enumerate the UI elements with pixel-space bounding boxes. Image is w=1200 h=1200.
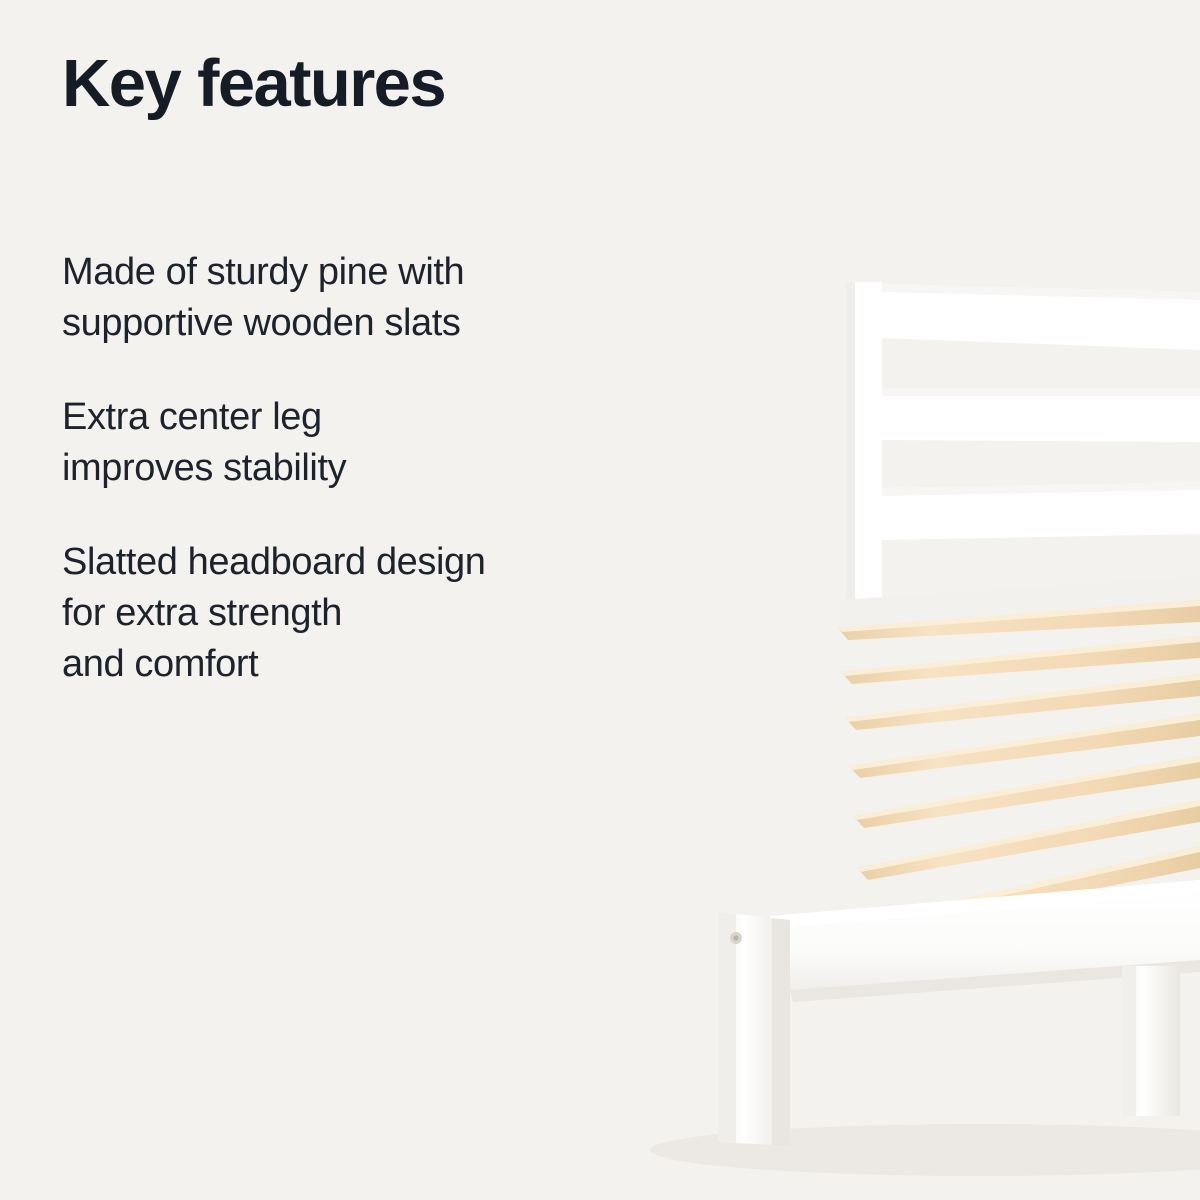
headboard-slats <box>882 284 1200 540</box>
page-title: Key features <box>62 48 682 120</box>
product-feature-panel: Key features Made of sturdy pine with su… <box>0 0 1200 1200</box>
feature-item-3: Slatted headboard design for extra stren… <box>62 537 682 689</box>
feature-item-1: Made of sturdy pine with supportive wood… <box>62 247 682 348</box>
feature-item-2: Extra center leg improves stability <box>62 392 682 493</box>
bed-leg-left <box>718 912 790 1146</box>
headboard-post <box>846 282 882 612</box>
feature-list: Made of sturdy pine with supportive wood… <box>62 247 682 689</box>
bed-leg-right <box>1122 966 1180 1116</box>
feature-text-column: Key features Made of sturdy pine with su… <box>62 48 682 689</box>
